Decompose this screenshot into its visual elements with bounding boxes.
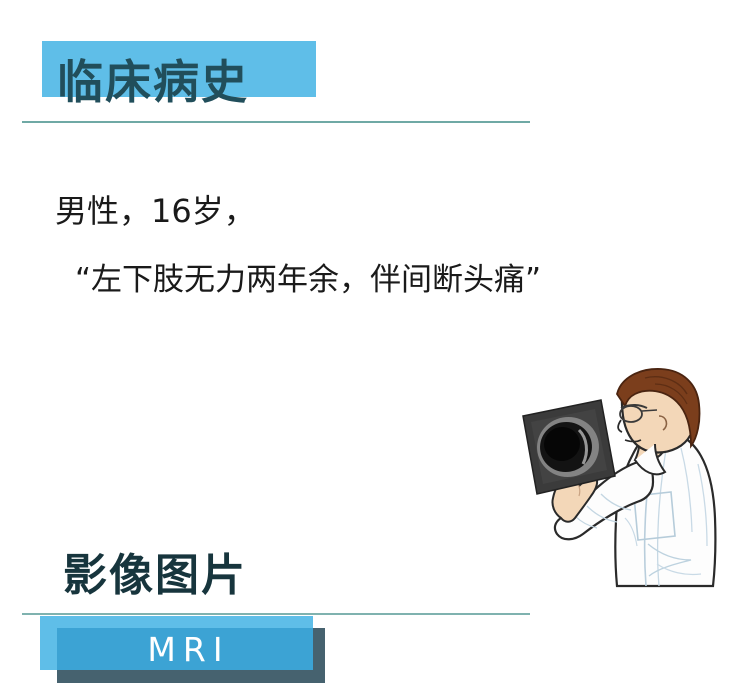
patient-demographics-line: 男性，16岁， bbox=[55, 195, 700, 227]
mri-modality-label: MRI bbox=[57, 628, 313, 670]
nose bbox=[618, 420, 622, 432]
imaging-divider bbox=[22, 613, 530, 615]
imaging-title: 影像图片 bbox=[63, 554, 247, 598]
imaging-section: 影像图片 MRI bbox=[0, 540, 751, 696]
slide-canvas: 临床病史 男性，16岁， “左下肢无力两年余，伴间断头痛” bbox=[0, 0, 751, 696]
clinical-history-divider bbox=[22, 121, 530, 123]
mri-film-group bbox=[523, 400, 615, 494]
clinical-history-section: 临床病史 bbox=[0, 0, 751, 140]
chief-complaint-line: “左下肢无力两年余，伴间断头痛” bbox=[75, 265, 700, 296]
case-body-text: 男性，16岁， “左下肢无力两年余，伴间断头痛” bbox=[0, 195, 700, 296]
clinical-history-title: 临床病史 bbox=[57, 59, 249, 105]
eyeglasses-temple bbox=[642, 410, 657, 411]
